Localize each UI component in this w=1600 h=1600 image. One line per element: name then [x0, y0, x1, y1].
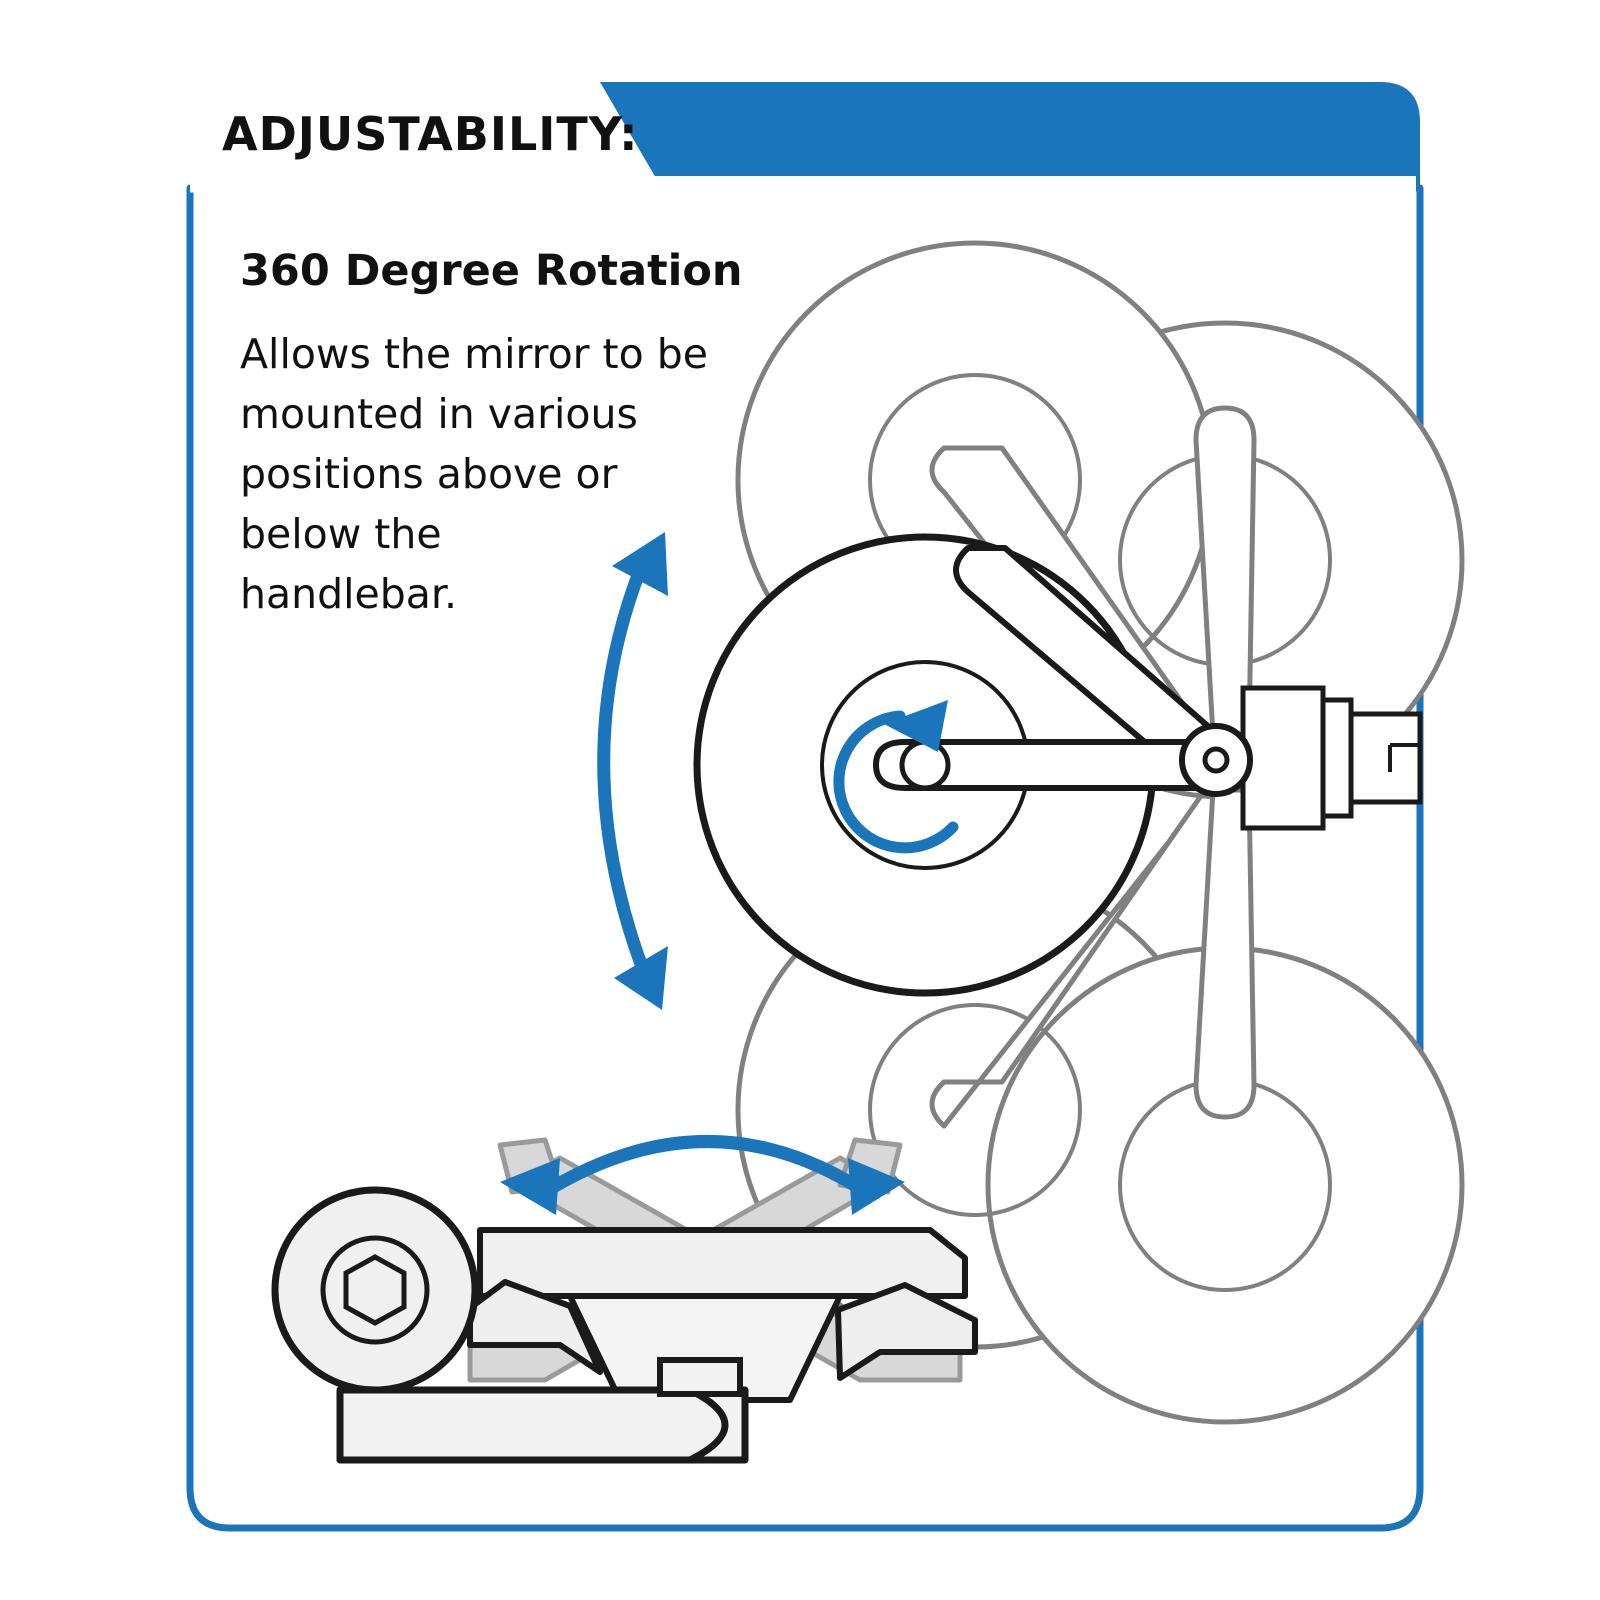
section-heading: 360 Degree Rotation — [240, 246, 743, 296]
tilt-top-plate — [480, 1230, 965, 1296]
tilt-base-riser — [660, 1360, 740, 1394]
body-line-5: handlebar. — [240, 570, 457, 618]
diagram-canvas: ADJUSTABILITY: 360 Degree Rotation Allow… — [0, 0, 1600, 1600]
body-line-4: below the — [240, 510, 442, 558]
pivot-knuckle — [1182, 726, 1250, 794]
tilt-base-plate — [340, 1390, 745, 1460]
header-title: ADJUSTABILITY: — [222, 107, 638, 161]
tilt-pivot-disc — [275, 1190, 475, 1390]
body-line-1: Allows the mirror to be — [240, 330, 708, 378]
main-disc-hub — [902, 742, 948, 788]
body-line-2: mounted in various — [240, 390, 638, 438]
body-line-3: positions above or — [240, 450, 618, 498]
